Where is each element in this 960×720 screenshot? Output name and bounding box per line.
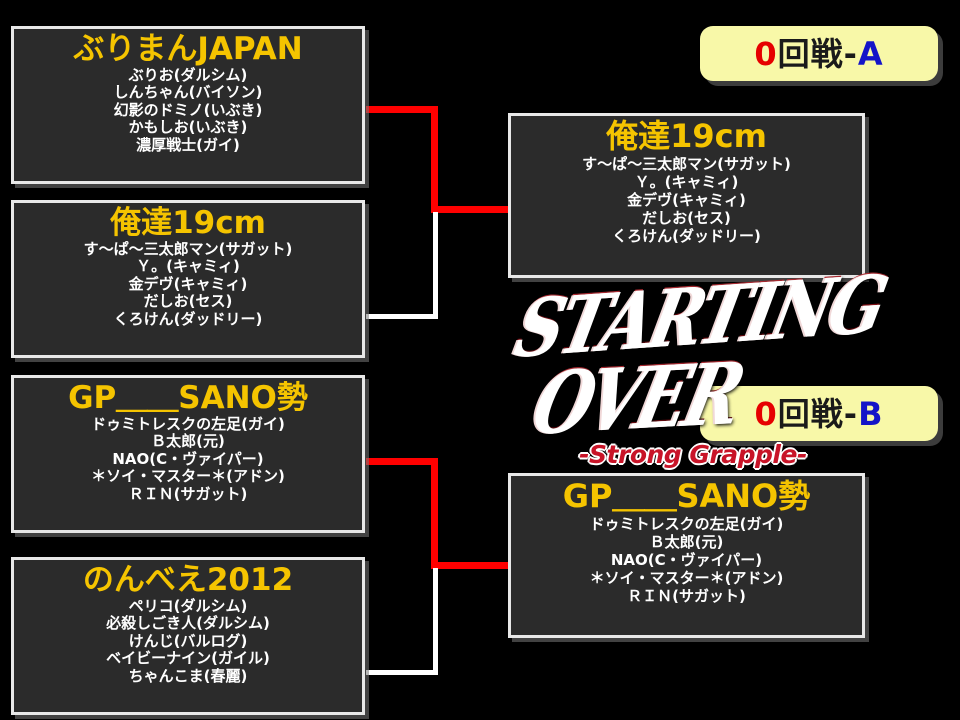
round-text: 回戦- [778,398,858,430]
bracket-a-winner-line-vert [431,106,438,212]
bracket-b-winner-line-top [366,458,438,465]
bracket-a-loser-line-bottom [366,314,438,319]
team-box-left-1[interactable]: ぶりまんJAPAN ぶりお(ダルシム) しんちゃん(バイソン) 幻影のドミノ(い… [11,26,365,184]
round-text: 回戦- [778,38,858,70]
roster-member: ベイビーナイン(ガイル) [14,650,362,668]
round-label-a: 0 回戦-A [700,26,938,81]
roster-member: くろけん(ダッドリー) [511,227,862,245]
roster-member: ＲＩＮ(サガット) [511,587,862,605]
bracket-a-winner-line-top [366,106,438,113]
roster-member: くろけん(ダッドリー) [14,311,362,329]
bracket-b-winner-line-vert [431,458,438,568]
team-roster: ドゥミトレスクの左足(ガイ) Ｂ太郎(元) NAO(C・ヴァイパー) ＊ソイ・マ… [511,515,862,605]
bracket-a-loser-line-vert [433,212,438,319]
bracket-b-loser-line-bottom [366,670,438,675]
roster-member: ドゥミトレスクの左足(ガイ) [14,416,362,434]
team-box-winner-b[interactable]: GP＿＿SANO勢 ドゥミトレスクの左足(ガイ) Ｂ太郎(元) NAO(C・ヴァ… [508,473,865,638]
team-name: GP＿＿SANO勢 [511,480,862,514]
round-number: 0 [755,398,778,430]
roster-member: す～ぱ～三太郎マン(サガット) [14,241,362,259]
team-name: 俺達19cm [511,120,862,154]
round-number: 0 [754,38,777,70]
round-label-b: 0 回戦-B [700,386,938,441]
roster-member: 金デヴ(キャミィ) [511,191,862,209]
team-box-left-3[interactable]: GP＿＿SANO勢 ドゥミトレスクの左足(ガイ) Ｂ太郎(元) NAO(C・ヴァ… [11,375,365,533]
roster-member: けんじ(バルログ) [14,633,362,651]
team-roster: す～ぱ～三太郎マン(サガット) Ｙ。(キャミィ) 金デヴ(キャミィ) だしお(セ… [511,155,862,245]
roster-member: す～ぱ～三太郎マン(サガット) [511,155,862,173]
logo-subtitle: -Strong Grapple- [553,440,833,469]
team-box-left-4[interactable]: のんべえ2012 ペリコ(ダルシム) 必殺しごき人(ダルシム) けんじ(バルログ… [11,557,365,715]
roster-member: だしお(セス) [14,293,362,311]
roster-member: ＲＩＮ(サガット) [14,486,362,504]
roster-member: しんちゃん(バイソン) [14,84,362,102]
team-box-left-2[interactable]: 俺達19cm す～ぱ～三太郎マン(サガット) Ｙ。(キャミィ) 金デヴ(キャミィ… [11,200,365,358]
bracket-b-loser-line-vert [433,568,438,675]
roster-member: Ｂ太郎(元) [511,533,862,551]
roster-member: かもしお(いぶき) [14,119,362,137]
team-name: 俺達19cm [14,207,362,240]
team-name: ぶりまんJAPAN [14,33,362,66]
team-roster: ドゥミトレスクの左足(ガイ) Ｂ太郎(元) NAO(C・ヴァイパー) ＊ソイ・マ… [14,416,362,504]
roster-member: ちゃんこま(春麗) [14,668,362,686]
bracket-a-winner-line-out [431,206,511,213]
roster-member: ぶりお(ダルシム) [14,67,362,85]
roster-member: ドゥミトレスクの左足(ガイ) [511,515,862,533]
team-roster: ぶりお(ダルシム) しんちゃん(バイソン) 幻影のドミノ(いぶき) かもしお(い… [14,67,362,155]
team-box-winner-a[interactable]: 俺達19cm す～ぱ～三太郎マン(サガット) Ｙ。(キャミィ) 金デヴ(キャミィ… [508,113,865,278]
bracket-canvas: ぶりまんJAPAN ぶりお(ダルシム) しんちゃん(バイソン) 幻影のドミノ(い… [0,0,960,720]
roster-member: 必殺しごき人(ダルシム) [14,615,362,633]
team-name: GP＿＿SANO勢 [14,382,362,415]
roster-member: NAO(C・ヴァイパー) [14,451,362,469]
round-group: A [858,38,884,70]
roster-member: ＊ソイ・マスター＊(アドン) [14,468,362,486]
roster-member: Ｂ太郎(元) [14,433,362,451]
roster-member: 幻影のドミノ(いぶき) [14,102,362,120]
roster-member: 濃厚戦士(ガイ) [14,137,362,155]
team-roster: ペリコ(ダルシム) 必殺しごき人(ダルシム) けんじ(バルログ) ベイビーナイン… [14,598,362,686]
roster-member: 金デヴ(キャミィ) [14,276,362,294]
roster-member: Ｙ。(キャミィ) [511,173,862,191]
roster-member: ＊ソイ・マスター＊(アドン) [511,569,862,587]
round-group: B [858,398,883,430]
roster-member: だしお(セス) [511,209,862,227]
roster-member: ペリコ(ダルシム) [14,598,362,616]
team-roster: す～ぱ～三太郎マン(サガット) Ｙ。(キャミィ) 金デヴ(キャミィ) だしお(セ… [14,241,362,329]
roster-member: NAO(C・ヴァイパー) [511,551,862,569]
bracket-b-winner-line-out [431,562,511,569]
team-name: のんべえ2012 [14,564,362,597]
roster-member: Ｙ。(キャミィ) [14,258,362,276]
